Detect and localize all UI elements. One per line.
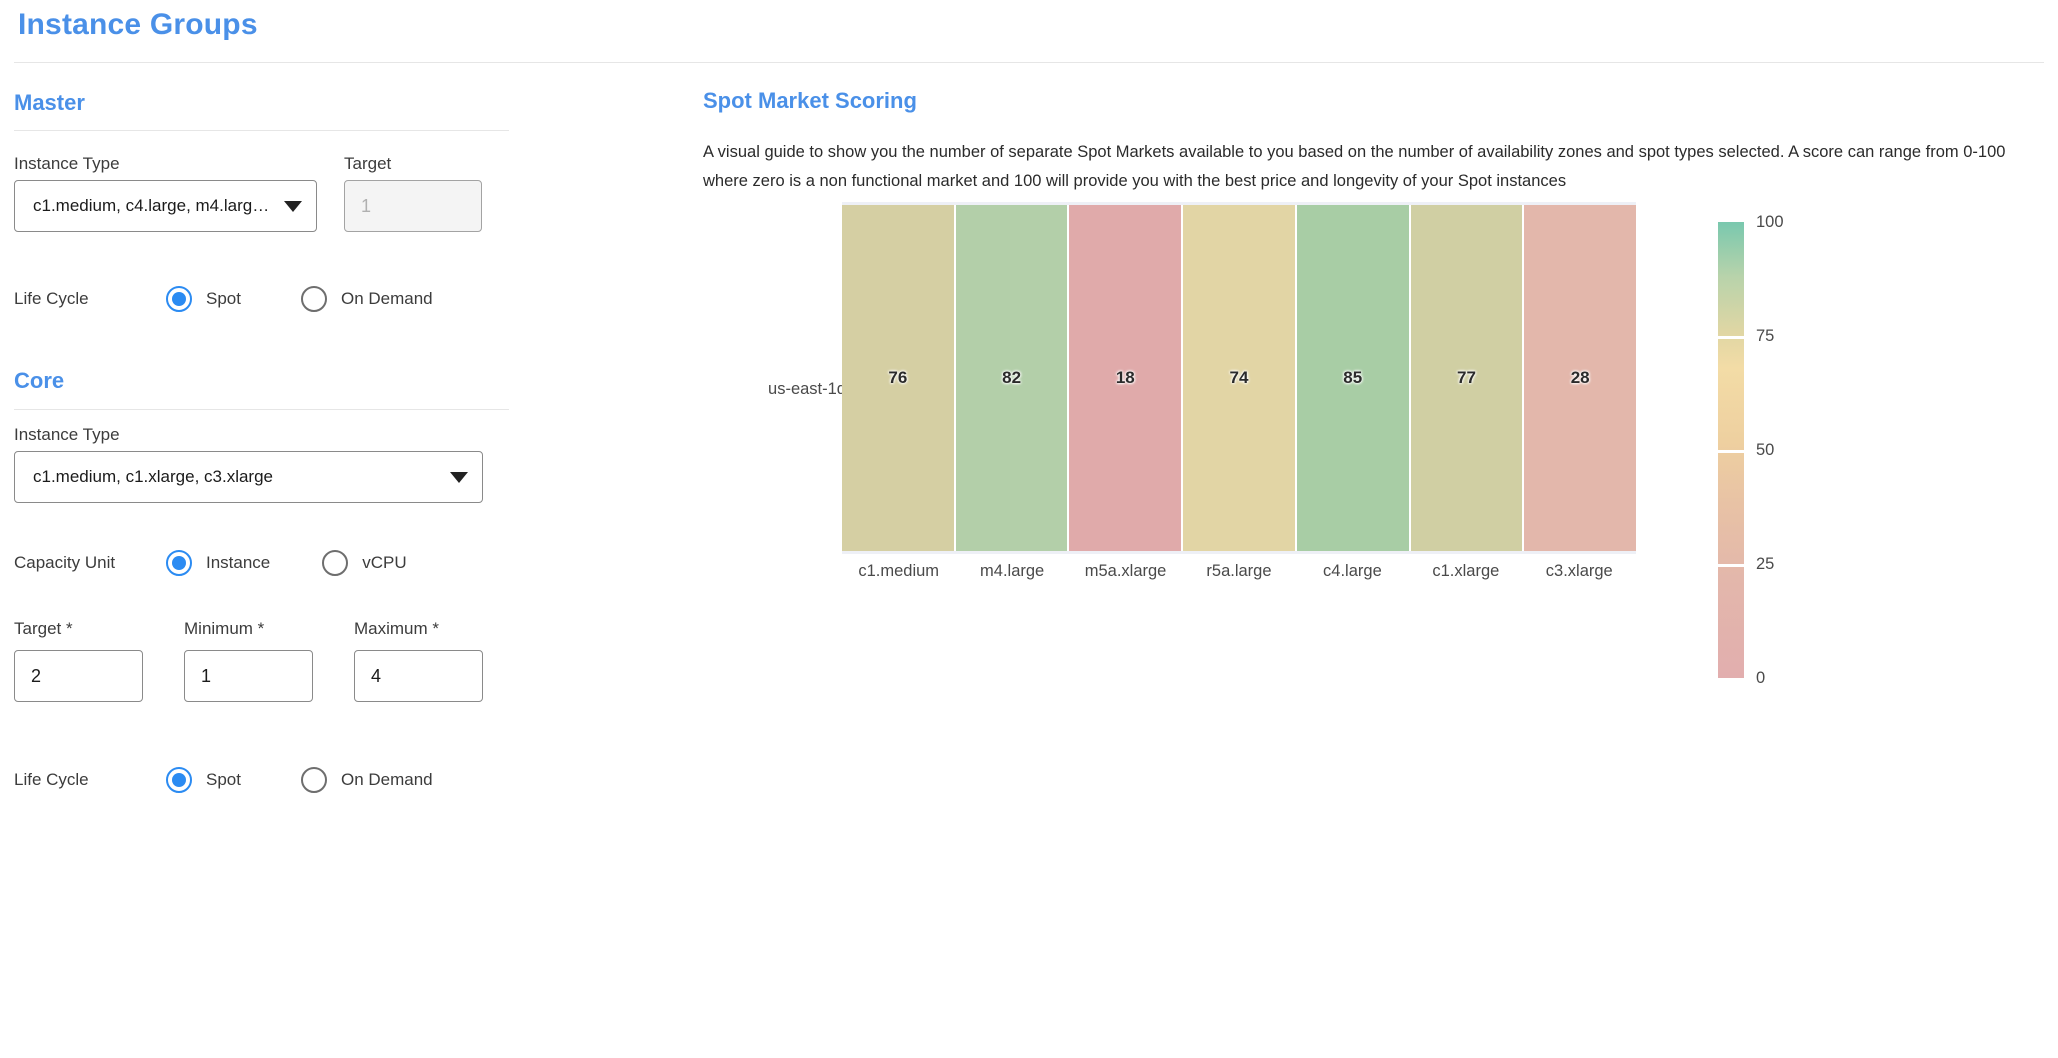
- heatmap-cell-value: 76: [888, 368, 907, 388]
- heatmap-cell-c3.xlarge[interactable]: 28: [1524, 205, 1636, 551]
- heatmap-cell-r5a.large[interactable]: 74: [1183, 205, 1297, 551]
- core-life-cycle-row: Life Cycle Spot On Demand: [14, 767, 433, 793]
- core-target-input[interactable]: 2: [14, 650, 143, 702]
- core-maximum-value: 4: [371, 666, 381, 687]
- colorbar-tick-75: [1718, 336, 1744, 339]
- radio-icon-instance[interactable]: [166, 550, 192, 576]
- heatmap-cell-c1.xlarge[interactable]: 77: [1411, 205, 1525, 551]
- colorbar-tick-50: [1718, 450, 1744, 453]
- master-target-input[interactable]: 1: [344, 180, 482, 232]
- core-capacity-unit-label: Capacity Unit: [14, 553, 154, 573]
- core-section-title: Core: [14, 368, 64, 394]
- radio-icon-on-demand[interactable]: [301, 767, 327, 793]
- core-target-label: Target *: [14, 619, 73, 639]
- radio-icon-on-demand[interactable]: [301, 286, 327, 312]
- chevron-down-icon: [284, 201, 302, 212]
- master-target-label: Target: [344, 154, 391, 174]
- master-instance-type-select[interactable]: c1.medium, c4.large, m4.large, …: [14, 180, 317, 232]
- master-life-cycle-spot-label: Spot: [206, 289, 241, 309]
- radio-icon-vcpu[interactable]: [322, 550, 348, 576]
- heatmap-x-label-r5a.large: r5a.large: [1182, 562, 1295, 581]
- core-capacity-unit-vcpu-label: vCPU: [362, 553, 406, 573]
- heatmap-cell-c4.large[interactable]: 85: [1297, 205, 1411, 551]
- chevron-down-icon: [450, 472, 468, 483]
- page-title: Instance Groups: [18, 8, 258, 42]
- core-capacity-unit-instance-label: Instance: [206, 553, 270, 573]
- master-target-value: 1: [361, 196, 371, 217]
- heatmap-x-label-c1.medium: c1.medium: [842, 562, 955, 581]
- core-life-cycle-spot[interactable]: Spot: [166, 767, 241, 793]
- master-life-cycle-label: Life Cycle: [14, 289, 154, 309]
- spot-market-scoring-title: Spot Market Scoring: [703, 88, 917, 114]
- heatmap-grid: 76821874857728: [842, 202, 1636, 554]
- heatmap-cell-value: 74: [1230, 368, 1249, 388]
- core-capacity-unit-vcpu[interactable]: vCPU: [322, 550, 406, 576]
- master-life-cycle-on-demand-label: On Demand: [341, 289, 433, 309]
- heatmap-x-label-c4.large: c4.large: [1296, 562, 1409, 581]
- core-instance-type-value: c1.medium, c1.xlarge, c3.xlarge: [33, 467, 440, 487]
- colorbar-label-75: 75: [1756, 327, 1774, 346]
- core-minimum-label: Minimum *: [184, 619, 264, 639]
- header-divider: [14, 62, 2044, 63]
- core-life-cycle-on-demand-label: On Demand: [341, 770, 433, 790]
- heatmap-cell-c1.medium[interactable]: 76: [842, 205, 956, 551]
- core-capacity-unit-row: Capacity Unit Instance vCPU: [14, 550, 407, 576]
- master-instance-type-label: Instance Type: [14, 154, 120, 174]
- core-capacity-unit-instance[interactable]: Instance: [166, 550, 270, 576]
- heatmap-cell-value: 85: [1343, 368, 1362, 388]
- heatmap-x-label-c1.xlarge: c1.xlarge: [1409, 562, 1522, 581]
- instance-groups-page: Instance Groups Master Instance Type c1.…: [0, 0, 2058, 1058]
- master-section-divider: [14, 130, 509, 131]
- heatmap-x-label-m4.large: m4.large: [955, 562, 1068, 581]
- heatmap-x-label-c3.xlarge: c3.xlarge: [1523, 562, 1636, 581]
- heatmap-row-label-us-east-1d: us-east-1d: [696, 380, 846, 399]
- spot-market-heatmap: us-east-1d 76821874857728 c1.mediumm4.la…: [700, 202, 2058, 622]
- heatmap-x-label-m5a.xlarge: m5a.xlarge: [1069, 562, 1182, 581]
- core-life-cycle-label: Life Cycle: [14, 770, 154, 790]
- instance-groups-form: Master Instance Type c1.medium, c4.large…: [0, 72, 700, 1058]
- heatmap-x-axis-labels: c1.mediumm4.largem5a.xlarger5a.largec4.l…: [842, 562, 1636, 581]
- core-section-divider: [14, 409, 509, 410]
- radio-icon-spot[interactable]: [166, 286, 192, 312]
- master-instance-type-value: c1.medium, c4.large, m4.large, …: [33, 196, 274, 216]
- spot-market-scoring-description: A visual guide to show you the number of…: [703, 138, 2013, 196]
- spot-market-scoring-panel: Spot Market Scoring A visual guide to sh…: [700, 72, 2058, 1058]
- core-instance-type-label: Instance Type: [14, 425, 120, 445]
- master-life-cycle-row: Life Cycle Spot On Demand: [14, 286, 433, 312]
- heatmap-cell-m4.large[interactable]: 82: [956, 205, 1070, 551]
- colorbar-label-50: 50: [1756, 441, 1774, 460]
- core-life-cycle-on-demand[interactable]: On Demand: [301, 767, 433, 793]
- core-life-cycle-spot-label: Spot: [206, 770, 241, 790]
- core-maximum-input[interactable]: 4: [354, 650, 483, 702]
- core-maximum-label: Maximum *: [354, 619, 439, 639]
- core-minimum-input[interactable]: 1: [184, 650, 313, 702]
- colorbar-label-0: 0: [1756, 669, 1765, 688]
- heatmap-cell-value: 18: [1116, 368, 1135, 388]
- colorbar-label-100: 100: [1756, 213, 1784, 232]
- heatmap-cell-m5a.xlarge[interactable]: 18: [1069, 205, 1183, 551]
- core-target-value: 2: [31, 666, 41, 687]
- colorbar-tick-25: [1718, 564, 1744, 567]
- master-life-cycle-on-demand[interactable]: On Demand: [301, 286, 433, 312]
- heatmap-cell-value: 82: [1002, 368, 1021, 388]
- master-life-cycle-spot[interactable]: Spot: [166, 286, 241, 312]
- radio-icon-spot[interactable]: [166, 767, 192, 793]
- core-instance-type-select[interactable]: c1.medium, c1.xlarge, c3.xlarge: [14, 451, 483, 503]
- heatmap-cell-value: 28: [1571, 368, 1590, 388]
- colorbar-label-25: 25: [1756, 555, 1774, 574]
- core-minimum-value: 1: [201, 666, 211, 687]
- heatmap-cell-value: 77: [1457, 368, 1476, 388]
- master-section-title: Master: [14, 90, 85, 116]
